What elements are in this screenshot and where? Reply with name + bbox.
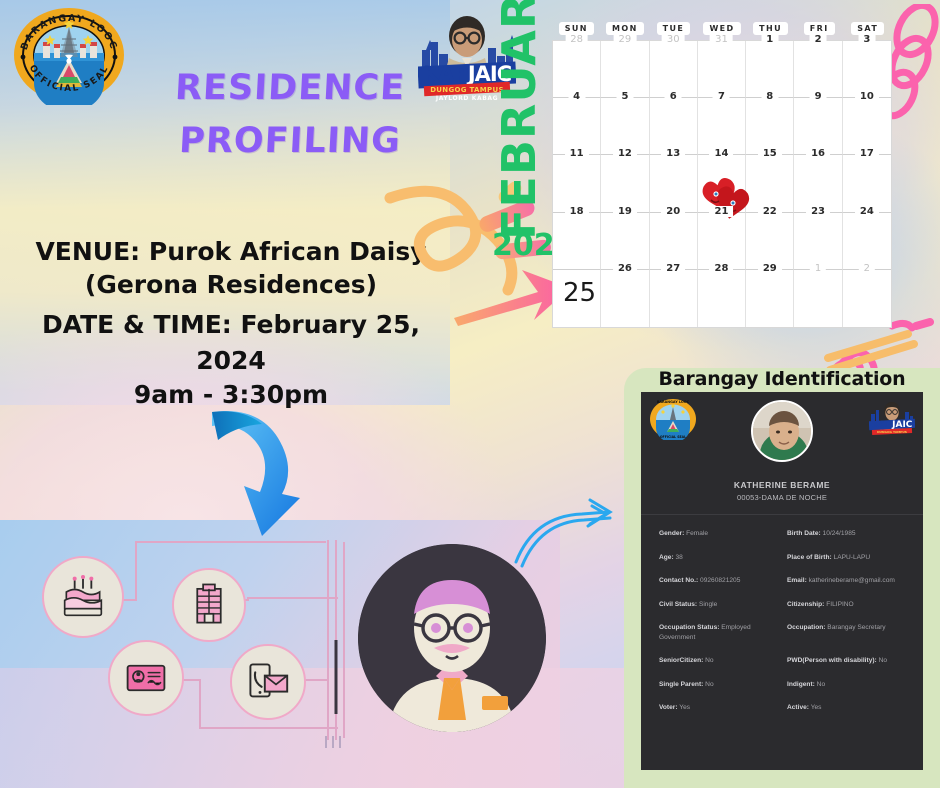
id-field: Voter: Yes [659, 703, 777, 713]
calendar-day-cell[interactable]: 29 [601, 41, 649, 98]
headline-line-2: PROFILING [129, 115, 452, 168]
calendar-day-cell[interactable]: 20 [650, 213, 698, 270]
venue-line-1: VENUE: Purok African Daisy [6, 235, 456, 268]
calendar-day-cell[interactable]: 28 [553, 41, 601, 98]
calendar-day-number: 20 [661, 206, 685, 217]
calendar-day-header-label: THU [753, 22, 788, 35]
calendar-day-number: 13 [661, 148, 685, 159]
calendar-day-number: 31 [710, 34, 733, 45]
id-field: SeniorCitizen: No [659, 656, 777, 666]
calendar-day-cell[interactable]: 15 [746, 155, 794, 212]
calendar-day-cell[interactable]: 7 [698, 98, 746, 155]
id-field-label: Gender: [659, 530, 684, 537]
calendar-day-number: 1 [810, 263, 826, 274]
calendar-day-number: 15 [758, 148, 782, 159]
id-field-value: No [877, 657, 887, 664]
calendar-day-cell[interactable]: 16 [794, 155, 842, 212]
calendar-day-cell[interactable]: 18 [553, 213, 601, 270]
id-field-label: Active: [787, 704, 809, 711]
calendar-day-number: 29 [614, 34, 637, 45]
id-field: Occupation Status: Employed Government [659, 623, 777, 642]
calendar-day-cell[interactable]: 26 [601, 270, 649, 327]
id-field-label: Indigent: [787, 681, 815, 688]
id-field: Citizenship: FILIPINO [787, 600, 905, 610]
calendar-day-number: 5 [616, 91, 633, 102]
calendar-day-number: 19 [613, 206, 637, 217]
id-card-icon [108, 640, 184, 716]
calendar-day-cell[interactable]: 23 [794, 213, 842, 270]
calendar-day-cell[interactable]: 21 [698, 213, 746, 270]
person-avatar [358, 544, 546, 732]
calendar-day-number: 2 [810, 34, 827, 45]
id-field: Place of Birth: LAPU-LAPU [787, 553, 905, 563]
calendar-day-number: 9 [810, 91, 827, 102]
calendar-day-cell[interactable]: 31 [698, 41, 746, 98]
calendar: SUNMONTUEWEDTHUFRISAT 282930311234567891… [552, 18, 892, 328]
id-field: Single Parent: No [659, 680, 777, 690]
calendar-day-number: 11 [565, 148, 589, 159]
id-field-label: Occupation: [787, 624, 825, 631]
poster-canvas: BARANGAY LOOC OFFICIAL SEAL [0, 0, 940, 788]
calendar-day-number: 16 [806, 148, 830, 159]
calendar-day-number: 29 [758, 263, 782, 274]
calendar-day-cell[interactable]: 4 [553, 98, 601, 155]
calendar-day-number: 7 [713, 91, 730, 102]
calendar-day-number: 6 [665, 91, 682, 102]
id-field-label: Email: [787, 577, 807, 584]
id-field-label: Voter: [659, 704, 678, 711]
calendar-day-number: 27 [661, 263, 685, 274]
id-field: Active: Yes [787, 703, 905, 713]
id-kapjaic-logo: KAPJAIC DUNGOG TAMPUS [869, 400, 915, 436]
id-field-value: 38 [674, 554, 683, 561]
calendar-day-cell[interactable]: 17 [843, 155, 891, 212]
building-icon [172, 568, 246, 642]
calendar-day-cell[interactable]: 27 [650, 270, 698, 327]
calendar-day-cell[interactable]: 5 [601, 98, 649, 155]
calendar-day-number: 8 [761, 91, 778, 102]
calendar-day-cell[interactable]: 10 [843, 98, 891, 155]
calendar-day-number: 28 [565, 34, 588, 45]
id-card-header: BARANGAY LOOC OFFICIAL SEAL [641, 392, 923, 500]
id-field-label: Age: [659, 554, 674, 561]
calendar-day-number: 3 [858, 34, 875, 45]
id-field-value: Yes [678, 704, 690, 711]
calendar-day-number: 24 [855, 206, 879, 217]
calendar-day-number: 17 [855, 148, 879, 159]
id-field-value: No [703, 681, 713, 688]
calendar-day-cell[interactable]: 30 [650, 41, 698, 98]
calendar-day-cell[interactable]: 6 [650, 98, 698, 155]
poster-headline: RESIDENCE PROFILING [130, 62, 450, 167]
id-field: Occupation: Barangay Secretary [787, 623, 905, 642]
id-field: Age: 38 [659, 553, 777, 563]
id-field-label: PWD(Person with disability): [787, 657, 877, 664]
svg-text:BARANGAY LOOC: BARANGAY LOOC [657, 400, 690, 404]
id-field-value: LAPU-LAPU [832, 554, 870, 561]
id-field-label: Single Parent: [659, 681, 703, 688]
venue-line-2: (Gerona Residences) [6, 268, 456, 301]
birthday-cake-icon [42, 556, 124, 638]
calendar-day-cell[interactable]: 29 [746, 270, 794, 327]
calendar-day-cell[interactable]: 9 [794, 98, 842, 155]
calendar-day-cell[interactable]: 28 [698, 270, 746, 327]
id-field-label: Civil Status: [659, 601, 697, 608]
id-card-title: Barangay Identification [624, 368, 940, 390]
id-field-label: Place of Birth: [787, 554, 832, 561]
calendar-day-header-label: MON [606, 22, 644, 35]
id-field-value: Female [684, 530, 708, 537]
calendar-day-cell[interactable]: 2 [843, 270, 891, 327]
id-field-value: 10/24/1985 [821, 530, 856, 537]
calendar-day-number: 23 [806, 206, 830, 217]
calendar-day-number: 12 [613, 148, 637, 159]
calendar-day-header-label: SUN [559, 22, 594, 35]
event-details: VENUE: Purok African Daisy (Gerona Resid… [6, 235, 456, 411]
id-field-label: Contact No.: [659, 577, 698, 584]
headline-line-1: RESIDENCE [129, 62, 452, 115]
id-field: Email: katherineberame@gmail.com [787, 576, 905, 586]
id-field-value: FILIPINO [824, 601, 853, 608]
svg-text:OFFICIAL SEAL: OFFICIAL SEAL [660, 435, 686, 439]
datetime-line-1: DATE & TIME: February 25, 2024 [6, 307, 456, 378]
id-field: Contact No.: 09260821205 [659, 576, 777, 586]
id-barangay-seal-icon: BARANGAY LOOC OFFICIAL SEAL [649, 398, 697, 440]
id-field-label: Birth Date: [787, 530, 821, 537]
calendar-day-cell[interactable]: 1 [794, 270, 842, 327]
id-field-value: Yes [809, 704, 821, 711]
calendar-day-cell[interactable]: 19 [601, 213, 649, 270]
calendar-day-number: 22 [758, 206, 782, 217]
calendar-day-number: 30 [662, 34, 685, 45]
calendar-day-cell[interactable]: 2 [794, 41, 842, 98]
calendar-day-cell[interactable]: 1 [746, 41, 794, 98]
profiling-illustration [0, 520, 560, 788]
id-field-label: Occupation Status: [659, 624, 719, 631]
id-field: Indigent: No [787, 680, 905, 690]
barangay-seal-icon: BARANGAY LOOC OFFICIAL SEAL [10, 5, 128, 105]
calendar-day-number: 10 [855, 91, 879, 102]
calendar-day-number: 2 [859, 263, 875, 274]
id-field-value: Single [697, 601, 717, 608]
id-field-list: Gender: FemaleBirth Date: 10/24/1985Age:… [641, 515, 923, 713]
calendar-day-number: 25 [563, 278, 596, 308]
id-field: Gender: Female [659, 529, 777, 539]
id-field-value: 09260821205 [698, 577, 740, 584]
calendar-day-cell[interactable]: 22 [746, 213, 794, 270]
calendar-day-header-label: WED [703, 22, 740, 35]
calendar-day-number: 4 [568, 91, 585, 102]
calendar-grid: 2829303112345678910111213141516171819202… [552, 40, 892, 328]
calendar-day-header-label: SAT [851, 22, 884, 35]
id-field-label: SeniorCitizen: [659, 657, 703, 664]
phone-email-icon [230, 644, 306, 720]
barangay-id-card: BARANGAY LOOC OFFICIAL SEAL [641, 392, 923, 770]
calendar-day-cell[interactable]: 12 [601, 155, 649, 212]
id-field-value: Barangay Secretary [825, 624, 885, 631]
calendar-day-cell[interactable]: 8 [746, 98, 794, 155]
calendar-day-number: 28 [710, 263, 734, 274]
calendar-day-cell[interactable]: 25 [553, 270, 601, 327]
svg-text:DUNGOG TAMPUS: DUNGOG TAMPUS [877, 430, 907, 434]
id-field: Civil Status: Single [659, 600, 777, 610]
calendar-day-cell[interactable]: 24 [843, 213, 891, 270]
calendar-day-cell[interactable]: 11 [553, 155, 601, 212]
id-field-label: Citizenship: [787, 601, 824, 608]
calendar-day-cell[interactable]: 13 [650, 155, 698, 212]
datetime-line-2: 9am - 3:30pm [6, 378, 456, 411]
id-field-value: katherineberame@gmail.com [807, 577, 895, 584]
calendar-day-cell[interactable]: 3 [843, 41, 891, 98]
calendar-day-number: 1 [761, 34, 778, 45]
id-field-value: No [815, 681, 825, 688]
id-field-value: No [703, 657, 713, 664]
calendar-day-number: 18 [565, 206, 589, 217]
calendar-day-cell[interactable]: 14 [698, 155, 746, 212]
calendar-month-label: FEBRUARY [492, 8, 546, 240]
calendar-day-number: 14 [710, 148, 734, 159]
calendar-day-number: 26 [613, 263, 637, 274]
id-field: Birth Date: 10/24/1985 [787, 529, 905, 539]
id-photo-avatar [751, 400, 813, 462]
calendar-day-header-label: FRI [804, 22, 835, 35]
id-field: PWD(Person with disability): No [787, 656, 905, 666]
calendar-day-number: 21 [710, 206, 734, 217]
calendar-day-header-label: TUE [657, 22, 691, 35]
